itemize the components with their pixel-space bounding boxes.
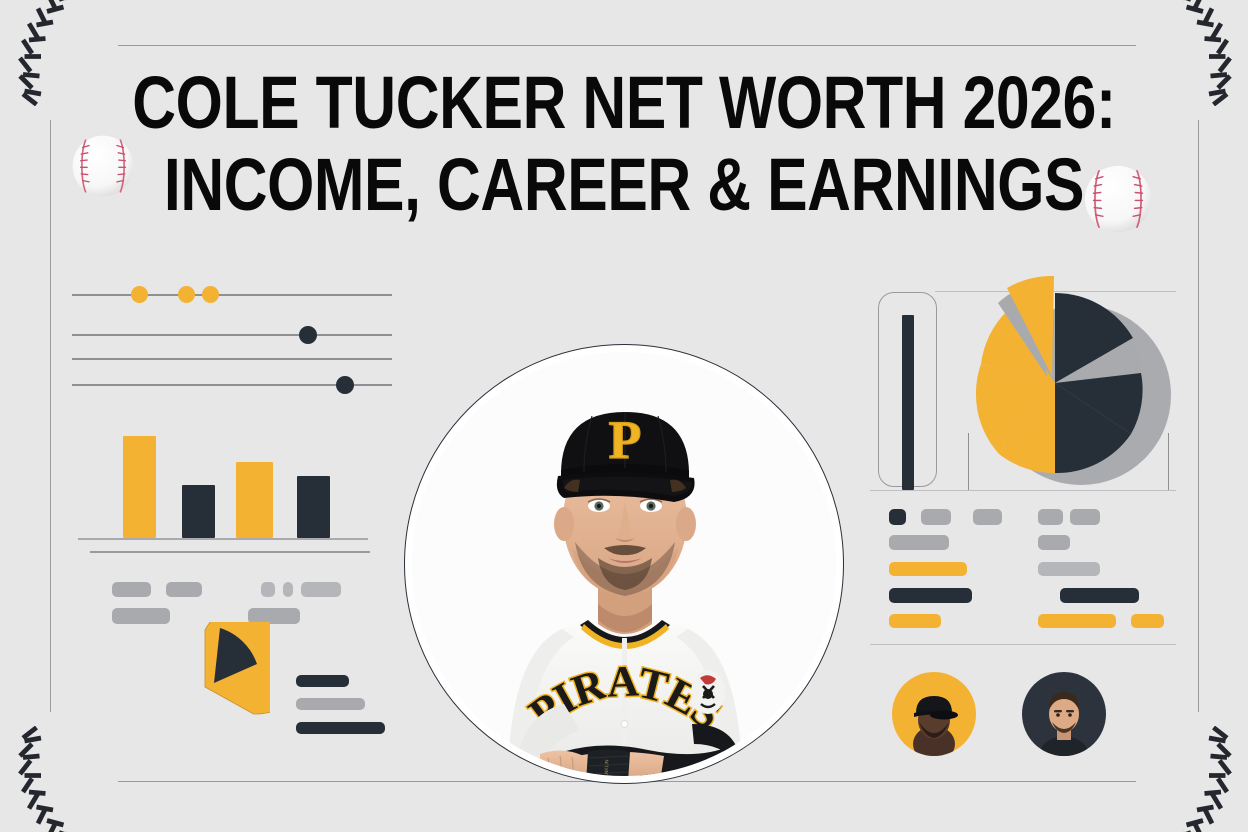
slider-handle-1a[interactable] [131,286,148,303]
slider-track-3[interactable] [72,358,392,360]
right-pill-dark-square [889,509,906,525]
avatar-yellow[interactable] [892,672,976,756]
right-pill-dark-a [889,588,972,603]
right-chart-axis-left [968,433,969,490]
stitch-arc-top-right [1146,0,1248,106]
right-panel-divider [870,644,1176,645]
right-pill-yellow-a [889,562,967,576]
summary-bar-gray-1 [296,698,365,710]
bar-chart-bar-3 [236,462,273,538]
svg-text:P: P [609,410,642,470]
right-pill-gray-e [889,535,949,550]
page-title-line-1: COLE TUCKER NET WORTH 2026: [112,62,1135,144]
summary-bar-dark-2 [296,722,385,734]
portrait-image: PIRATES [412,352,836,776]
right-pill-gray-c [1038,509,1063,525]
summary-bar-dark-1 [296,675,349,687]
hero-graphic-canvas: COLE TUCKER NET WORTH 2026: INCOME, CARE… [0,0,1248,832]
frame-top-rule [118,45,1136,46]
bar-chart-bar-1 [123,436,156,538]
right-pill-yellow-d [1131,614,1164,628]
placeholder-pill-gray-5 [301,582,341,597]
metric-card-bar [902,315,914,490]
left-pie-chart [140,622,270,752]
baseball-icon-right [1082,163,1154,235]
slider-handle-4a[interactable] [336,376,354,394]
bar-chart-bar-2 [182,485,215,538]
bar-chart-under-rule [90,551,370,553]
stitch-arc-bottom-right [1146,726,1248,832]
right-pie-chart [955,268,1195,508]
cole-tucker-portrait: PIRATES [404,344,844,784]
slider-track-2[interactable] [72,334,392,336]
stitch-arc-bottom-left [0,726,104,832]
right-pill-yellow-c [1038,614,1116,628]
right-pill-gray-b [973,509,1002,525]
placeholder-pill-gray-2 [166,582,202,597]
right-pill-yellow-b [889,614,941,628]
right-chart-rule-bottom [870,490,1176,491]
right-pill-gray-g [1038,562,1100,576]
page-title: COLE TUCKER NET WORTH 2026: INCOME, CARE… [0,62,1248,226]
bar-chart-bar-4 [297,476,330,538]
avatar-dark[interactable] [1022,672,1106,756]
slider-handle-1b[interactable] [178,286,195,303]
slider-handle-2a[interactable] [299,326,317,344]
placeholder-pill-gray-1 [112,582,151,597]
portrait-ring: PIRATES [404,344,844,784]
bar-chart-axis [78,538,368,540]
right-pill-gray-a [921,509,951,525]
right-pill-gray-f [1038,535,1070,550]
frame-left-rule [50,120,51,712]
placeholder-pill-gray-3 [261,582,275,597]
right-pill-dark-b [1060,588,1139,603]
right-chart-axis-right [1168,433,1169,490]
placeholder-pill-gray-4 [283,582,293,597]
baseball-icon-left [70,133,136,199]
slider-track-1[interactable] [72,294,392,296]
right-pill-gray-d [1070,509,1100,525]
stitch-arc-top-left [0,0,104,106]
page-title-line-2: INCOME, CAREER & EARNINGS [112,144,1135,226]
svg-text:FRANKLIN: FRANKLIN [604,759,611,776]
frame-right-rule [1198,120,1199,712]
slider-handle-1c[interactable] [202,286,219,303]
